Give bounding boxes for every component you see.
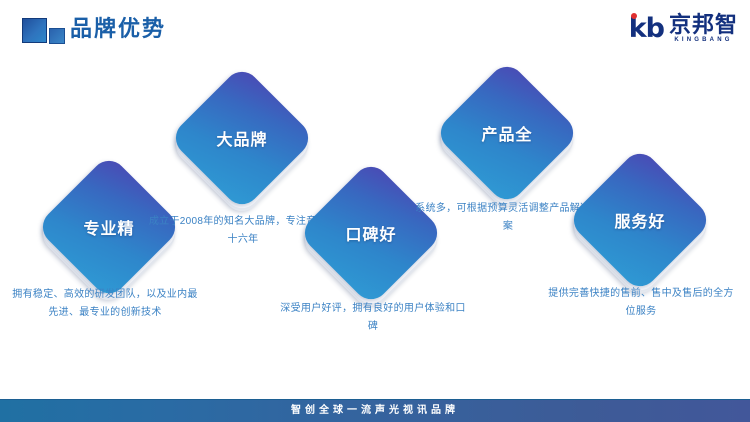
advantage-diamond[interactable]: 产品全 (455, 81, 559, 185)
brand-logo: kb 京邦智 KINGBANG (629, 12, 738, 46)
logo-mark: kb (629, 14, 664, 44)
slide-footer: 智创全球一流声光视讯品牌 (0, 399, 750, 422)
blue-square-large-icon (22, 18, 47, 43)
logo-red-dot-icon (631, 13, 637, 19)
advantage-diamond[interactable]: 口碑好 (319, 181, 423, 285)
logo-name-block: 京邦智 KINGBANG (669, 14, 738, 45)
diamond-label: 专业精 (57, 175, 161, 279)
page-title: 品牌优势 (70, 14, 166, 44)
diamond-label: 产品全 (455, 81, 559, 185)
diamond-label: 口碑好 (319, 181, 423, 285)
footer-tagline: 智创全球一流声光视讯品牌 (291, 400, 459, 422)
logo-chinese-name: 京邦智 (669, 14, 738, 36)
advantage-diamond[interactable]: 服务好 (588, 168, 692, 272)
advantage-caption: 拥有稳定、高效的研发团队，以及业内最先进、最专业的创新技术 (10, 286, 200, 322)
advantage-caption: 提供完善快捷的售前、售中及售后的全方位服务 (546, 285, 736, 321)
logo-english-name: KINGBANG (669, 36, 738, 45)
slide-canvas: 品牌优势 kb 京邦智 KINGBANG 专业精拥有稳定、高效的研发团队，以及业… (0, 0, 750, 422)
blue-square-small-icon (49, 28, 65, 44)
advantage-diamond[interactable]: 专业精 (57, 175, 161, 279)
advantage-diamond[interactable]: 大品牌 (190, 86, 294, 190)
diamond-label: 大品牌 (190, 86, 294, 190)
advantage-caption: 深受用户好评，拥有良好的用户体验和口碑 (278, 300, 468, 336)
diamond-label: 服务好 (588, 168, 692, 272)
